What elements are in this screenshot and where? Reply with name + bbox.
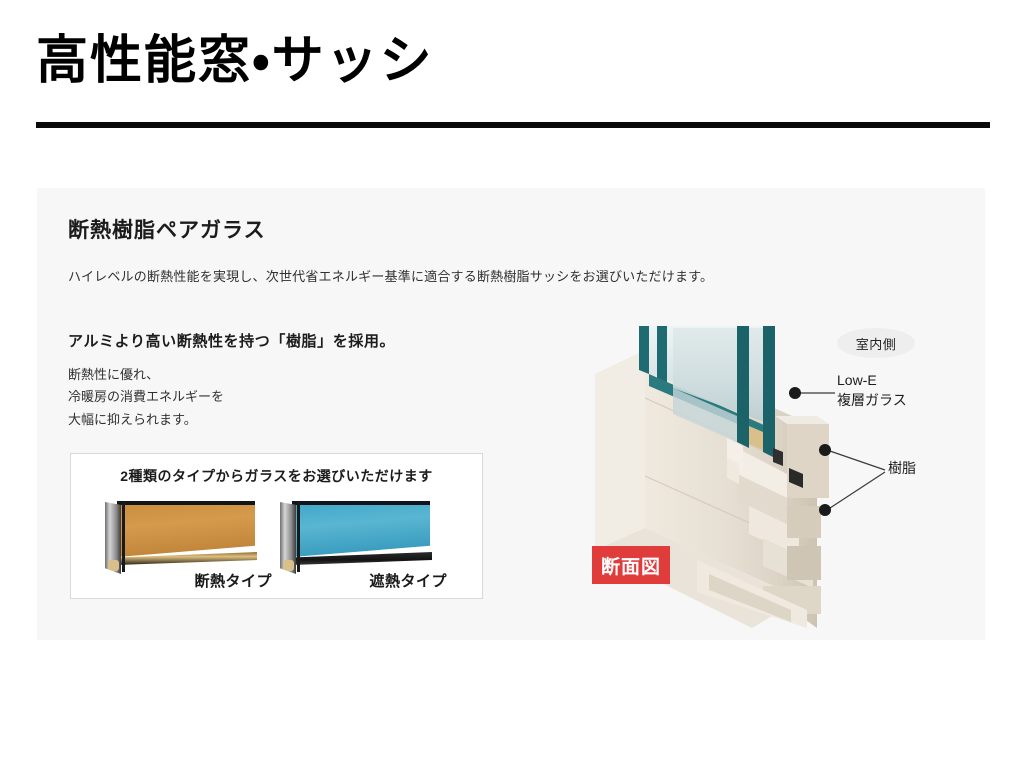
callout-resin: 樹脂	[888, 458, 916, 478]
feature-body-line-2: 冷暖房の消費エネルギーを	[68, 386, 224, 408]
feature-heading: アルミより高い断熱性を持つ「樹脂」を採用。	[68, 330, 395, 351]
glass-spacer-line-blue	[297, 502, 300, 572]
title-underline-rule	[36, 122, 990, 128]
glass-sample-shading: 遮熱タイプ	[274, 499, 449, 591]
glass-left-cap-blue	[280, 502, 296, 574]
glass-face-blue	[292, 501, 430, 557]
feature-body: 断熱性に優れ、 冷暖房の消費エネルギーを 大幅に抑えられます。	[68, 364, 224, 431]
cross-section-badge: 断面図	[592, 546, 670, 584]
section-description: ハイレベルの断熱性能を実現し、次世代省エネルギー基準に適合する断熱樹脂サッシをお…	[68, 266, 713, 285]
glass-sample-label-shading: 遮熱タイプ	[369, 570, 447, 591]
page-title: 高性能窓・サッシ	[36, 34, 434, 89]
glass-sample-insulating: 断熱タイプ	[99, 499, 274, 591]
callout-lowe-glass: Low-E 複層ガラス	[837, 370, 907, 411]
callout-lowe-line-2: 複層ガラス	[837, 390, 907, 410]
section-heading: 断熱樹脂ペアガラス	[68, 214, 266, 244]
glass-sealant-block-blue	[283, 560, 294, 571]
glass-edge-top-blue	[292, 501, 430, 505]
glass-spacer-line-amber	[122, 502, 125, 572]
glass-type-box: 2種類のタイプからガラスをお選びいただけます 断熱タイプ	[70, 453, 483, 599]
glass-left-cap-amber	[105, 502, 121, 574]
feature-body-line-1: 断熱性に優れ、	[68, 364, 224, 386]
feature-body-line-3: 大幅に抑えられます。	[68, 409, 224, 431]
glass-edge-top-amber	[117, 501, 255, 505]
cross-section-badge-label: 断面図	[601, 552, 661, 579]
glass-face-amber	[117, 501, 255, 557]
callout-indoor-side-label: 室内側	[856, 334, 897, 353]
glass-slab-blue-graphic	[280, 501, 430, 567]
glass-sealant-block-amber	[108, 560, 119, 571]
glass-sample-label-insulating: 断熱タイプ	[194, 570, 272, 591]
content-panel: 断熱樹脂ペアガラス ハイレベルの断熱性能を実現し、次世代省エネルギー基準に適合す…	[37, 188, 985, 640]
glass-box-title: 2種類のタイプからガラスをお選びいただけます	[71, 466, 482, 486]
callout-lowe-line-1: Low-E	[837, 370, 907, 390]
glass-slab-amber-graphic	[105, 501, 255, 567]
callout-indoor-side-badge: 室内側	[837, 328, 915, 358]
